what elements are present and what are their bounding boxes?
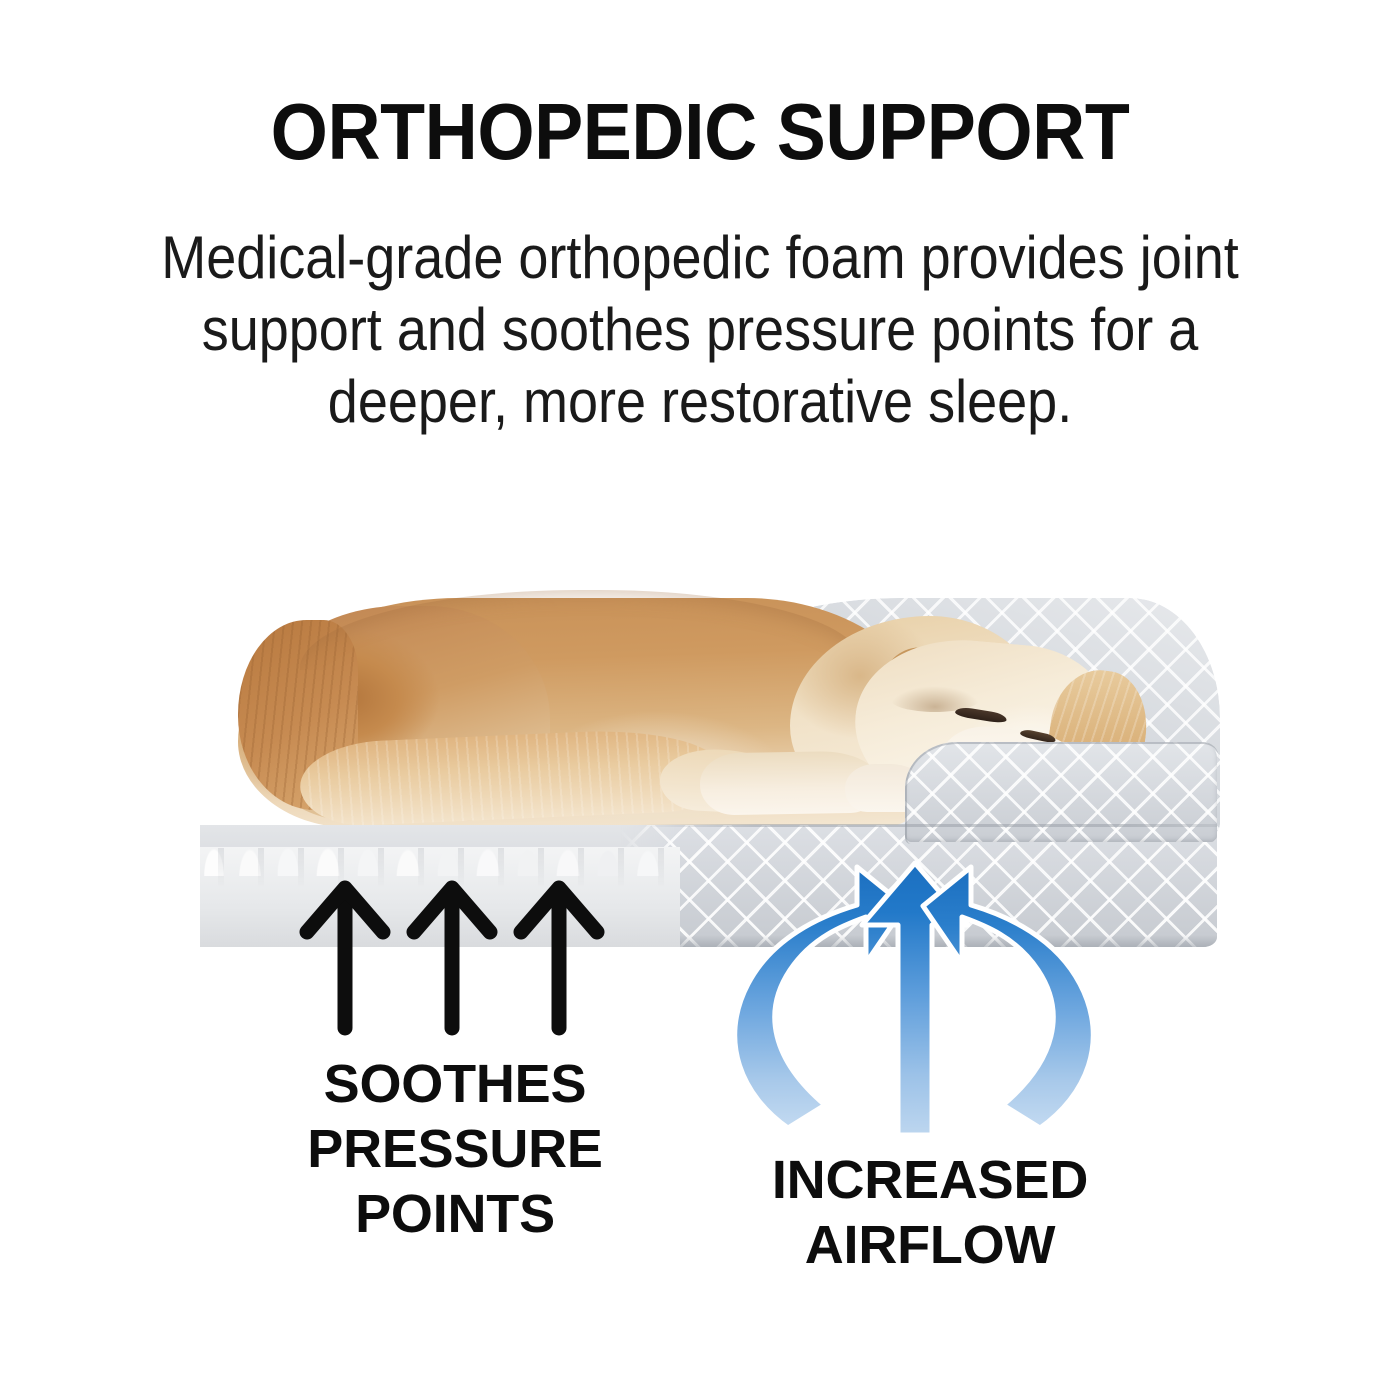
pressure-label-line-1: SOOTHES: [190, 1052, 720, 1117]
pressure-label-line-3: POINTS: [190, 1182, 720, 1247]
airflow-arrow-right: [923, 867, 1093, 1128]
airflow-label: INCREASED AIRFLOW: [690, 1148, 1170, 1278]
pressure-label-line-2: PRESSURE: [190, 1117, 720, 1182]
airflow-label-line-1: INCREASED: [690, 1148, 1170, 1213]
airflow-label-line-2: AIRFLOW: [690, 1213, 1170, 1278]
pressure-label: SOOTHES PRESSURE POINTS: [190, 1052, 720, 1247]
infographic-page: ORTHOPEDIC SUPPORT Medical-grade orthope…: [0, 0, 1400, 1400]
